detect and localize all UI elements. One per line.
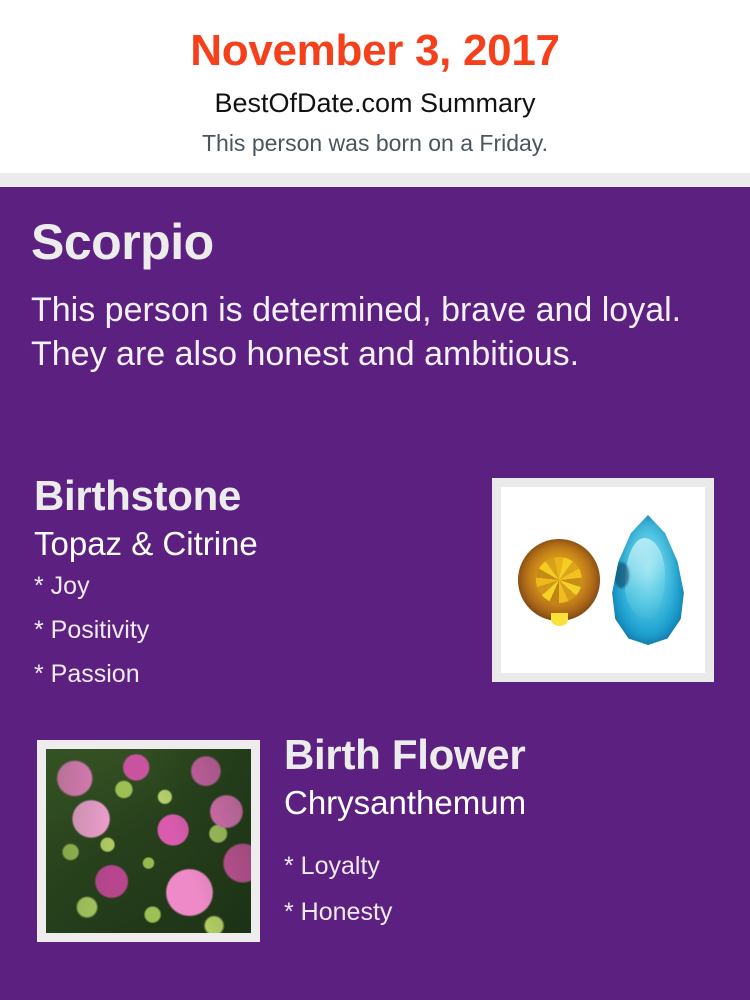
birth-flower-heading: Birth Flower [284,734,704,776]
birthstone-image [501,487,705,673]
summary-page: November 3, 2017 BestOfDate.com Summary … [0,0,750,1000]
birthstone-section: Birthstone Topaz & Citrine * Joy * Posit… [34,475,474,687]
list-item: * Joy [34,574,474,599]
citrine-gem-icon [518,539,600,621]
zodiac-description: This person is determined, brave and loy… [31,288,711,376]
page-header: November 3, 2017 BestOfDate.com Summary … [0,0,750,173]
birth-flower-image [46,749,251,933]
birthstone-names: Topaz & Citrine [34,517,474,560]
purple-content-panel: Scorpio This person is determined, brave… [0,187,750,1000]
list-item: * Honesty [284,879,704,925]
birthstone-image-frame [492,478,714,682]
list-item: * Passion [34,643,474,687]
birthstone-heading: Birthstone [34,475,474,517]
birthstone-trait-list: * Joy * Positivity * Passion [34,560,474,687]
site-summary-label: BestOfDate.com Summary [0,73,750,117]
list-item: * Positivity [34,599,474,643]
birth-flower-image-frame [37,740,260,942]
zodiac-sign-heading: Scorpio [31,217,214,267]
born-weekday-text: This person was born on a Friday. [0,117,750,155]
birth-flower-trait-list: * Loyalty * Honesty [284,819,704,925]
blue-topaz-gem-icon [609,515,687,645]
list-item: * Loyalty [284,833,704,879]
birth-flower-name: Chrysanthemum [284,776,704,819]
header-divider [0,173,750,187]
page-title-date: November 3, 2017 [0,0,750,73]
birth-flower-section: Birth Flower Chrysanthemum * Loyalty * H… [284,734,704,925]
